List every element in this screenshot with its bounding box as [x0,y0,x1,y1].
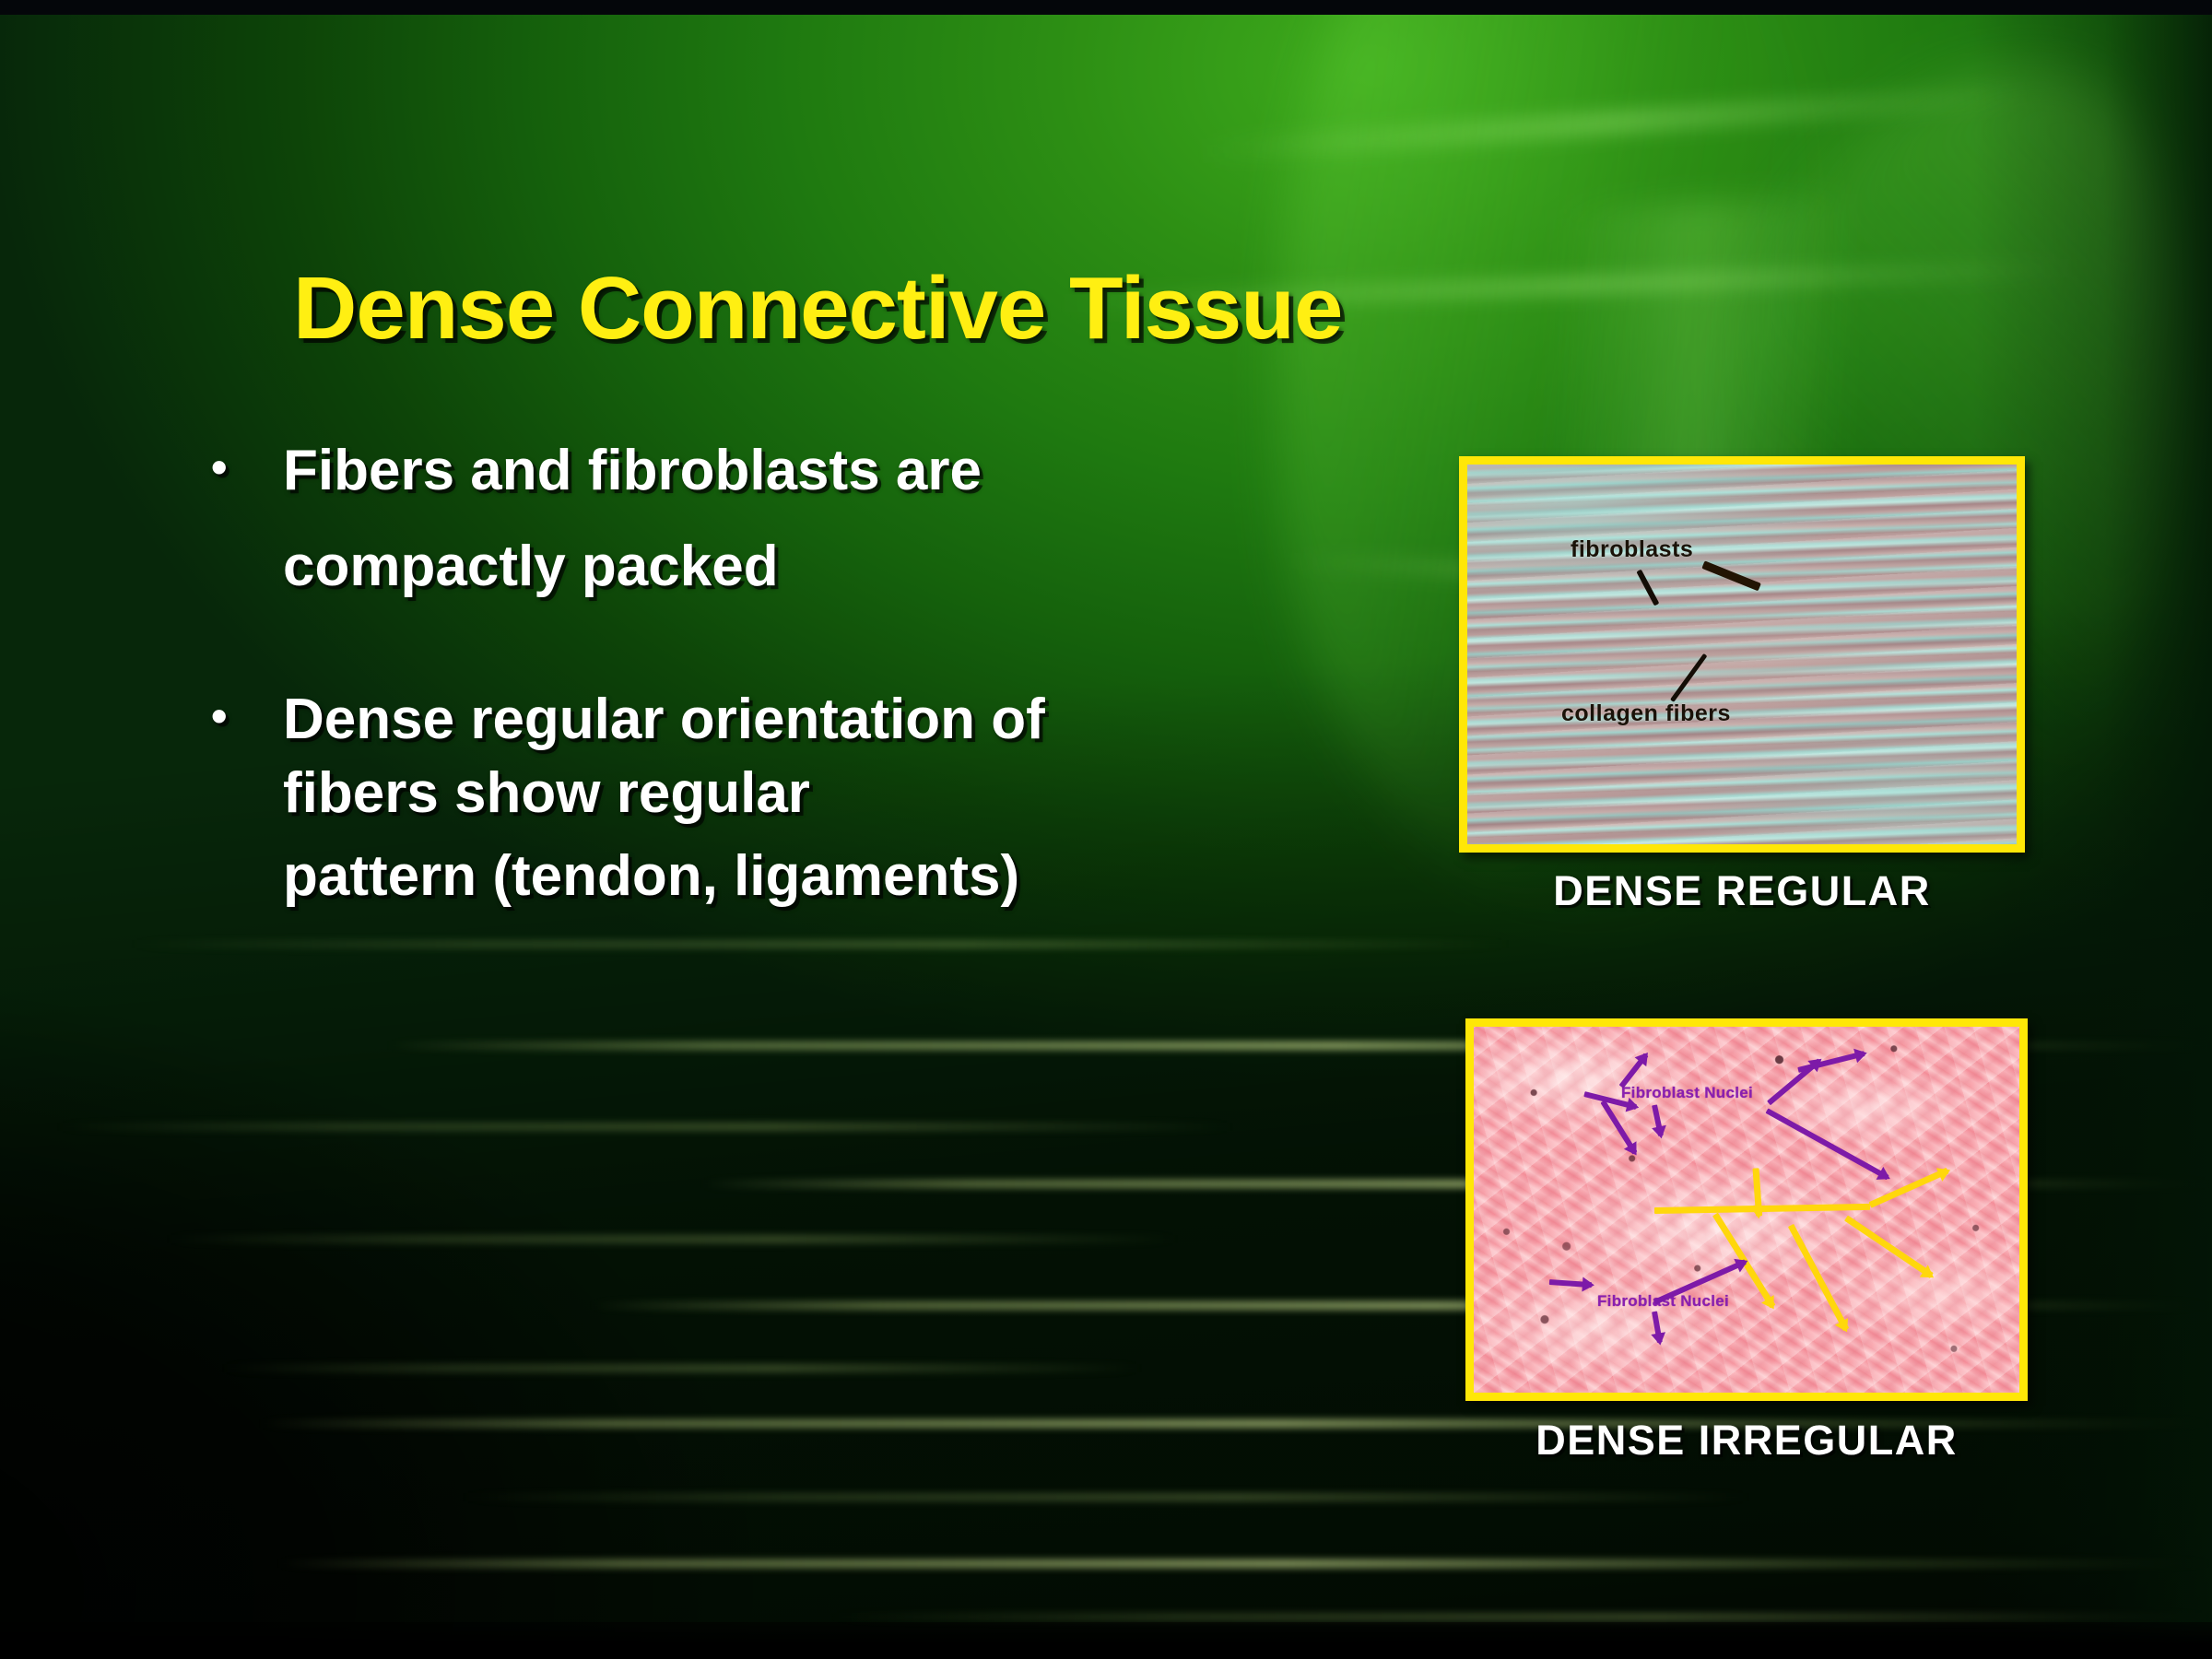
figure-dense-regular: fibroblasts collagen fibers DENSE REGULA… [1459,456,2025,853]
bullet-marker-icon: • [198,442,283,492]
dense-regular-label-collagen-fibers: collagen fibers [1561,700,1731,727]
dense-regular-tissue-image [1467,465,2017,844]
slide-canvas: Dense Connective Tissue • Fibers and fib… [0,0,2212,1659]
bullet-2-line-1: Dense regular orientation of [283,691,1424,748]
dense-irregular-label-fibroblast-nuclei-top: Fibroblast Nuclei [1621,1084,1753,1102]
bullet-1-line-1: Fibers and fibroblasts are [283,442,1396,500]
background-streak [129,940,1512,948]
bullet-2-line-2: fibers show regular [283,765,1424,822]
background-streak [221,1364,1143,1372]
bullet-item-2: • Dense regular orientation of fibers sh… [198,691,1424,905]
background-streak [276,1559,2212,1568]
bullet-item-1: • Fibers and fibroblasts are compactly p… [198,442,1396,595]
page-title: Dense Connective Tissue [293,258,1342,359]
background-streak [55,1123,1235,1131]
figure-dense-irregular: Fibroblast Nuclei Fibroblast Nuclei DENS… [1465,1018,2028,1401]
background-streak [461,1493,1751,1501]
dense-regular-label-fibroblasts: fibroblasts [1571,536,1693,563]
bullet-marker-icon: • [198,691,283,741]
dense-irregular-caption: DENSE IRREGULAR [1465,1417,2028,1465]
dense-regular-micrograph: fibroblasts collagen fibers [1459,456,2025,853]
dense-regular-caption: DENSE REGULAR [1459,867,2025,915]
dense-irregular-micrograph: Fibroblast Nuclei Fibroblast Nuclei [1465,1018,2028,1401]
bullet-1-line-2: compactly packed [283,538,1396,595]
background-streak [166,1235,1180,1243]
bullet-2-line-3: pattern (tendon, ligaments) [283,848,1424,905]
letterbox-top [0,0,2212,15]
letterbox-bottom [0,1622,2212,1659]
